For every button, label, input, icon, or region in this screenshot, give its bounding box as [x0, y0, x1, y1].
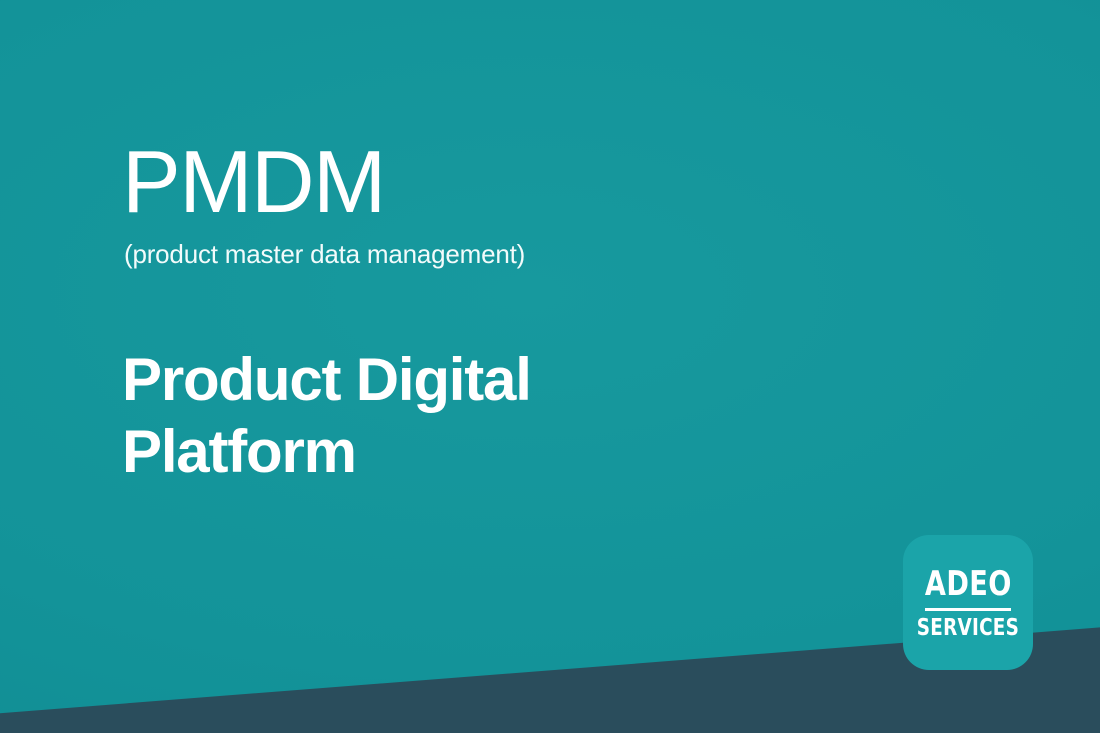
adeo-services-logo: ADEO SERVICES	[903, 535, 1033, 670]
page-title-line-1: Product Digital	[122, 344, 642, 416]
page-title-line-2: Platform	[122, 416, 642, 488]
logo-primary-text: ADEO	[925, 567, 1012, 601]
logo-secondary-text: SERVICES	[917, 617, 1019, 640]
title-text-block: PMDM (product master data management) Pr…	[122, 138, 822, 488]
page-title: Product Digital Platform	[122, 344, 642, 488]
logo-divider-rule	[925, 608, 1011, 611]
acronym-title: PMDM	[122, 138, 822, 226]
acronym-expansion: (product master data management)	[124, 240, 822, 270]
title-slide: PMDM (product master data management) Pr…	[0, 0, 1100, 733]
